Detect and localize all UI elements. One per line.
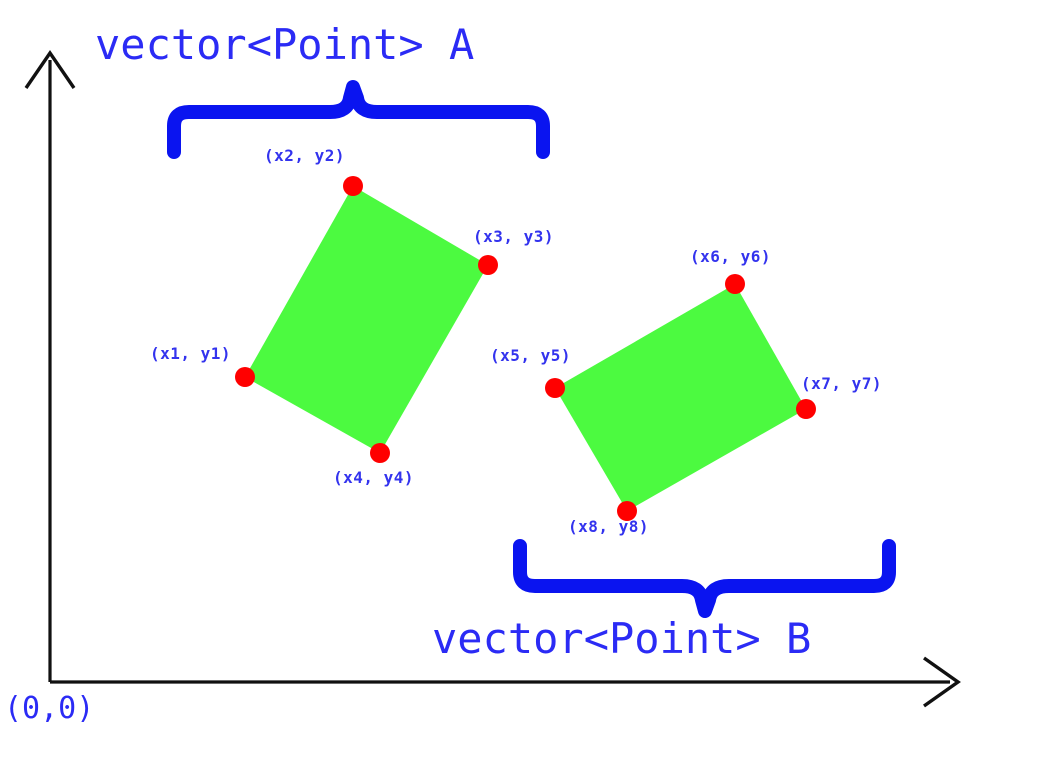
origin-label: (0,0): [4, 694, 94, 724]
polygon-group-a: [245, 186, 488, 453]
point-label-x1y1: (x1, y1): [150, 346, 231, 362]
group-title-a: vector<Point> A: [95, 24, 474, 66]
vertex-dot-x2y2: [343, 176, 363, 196]
point-label-x4y4: (x4, y4): [333, 470, 414, 486]
group-title-b: vector<Point> B: [432, 618, 811, 660]
point-label-x8y8: (x8, y8): [568, 519, 649, 535]
vertex-dot-x1y1: [235, 367, 255, 387]
vertex-dot-x3y3: [478, 255, 498, 275]
point-label-x3y3: (x3, y3): [473, 229, 554, 245]
vertex-dot-x7y7: [796, 399, 816, 419]
point-label-x7y7: (x7, y7): [801, 376, 882, 392]
diagram-canvas: vector<Point> A (x1, y1) (x2, y2) (x3, y…: [0, 0, 1046, 759]
vertex-dot-x5y5: [545, 378, 565, 398]
polygon-group-b: [555, 284, 806, 511]
point-label-x5y5: (x5, y5): [490, 348, 571, 364]
vertex-dot-x4y4: [370, 443, 390, 463]
point-label-x2y2: (x2, y2): [264, 148, 345, 164]
brace-group-b: [520, 546, 889, 611]
point-label-x6y6: (x6, y6): [690, 249, 771, 265]
vertex-dot-x6y6: [725, 274, 745, 294]
brace-group-a: [174, 87, 543, 152]
